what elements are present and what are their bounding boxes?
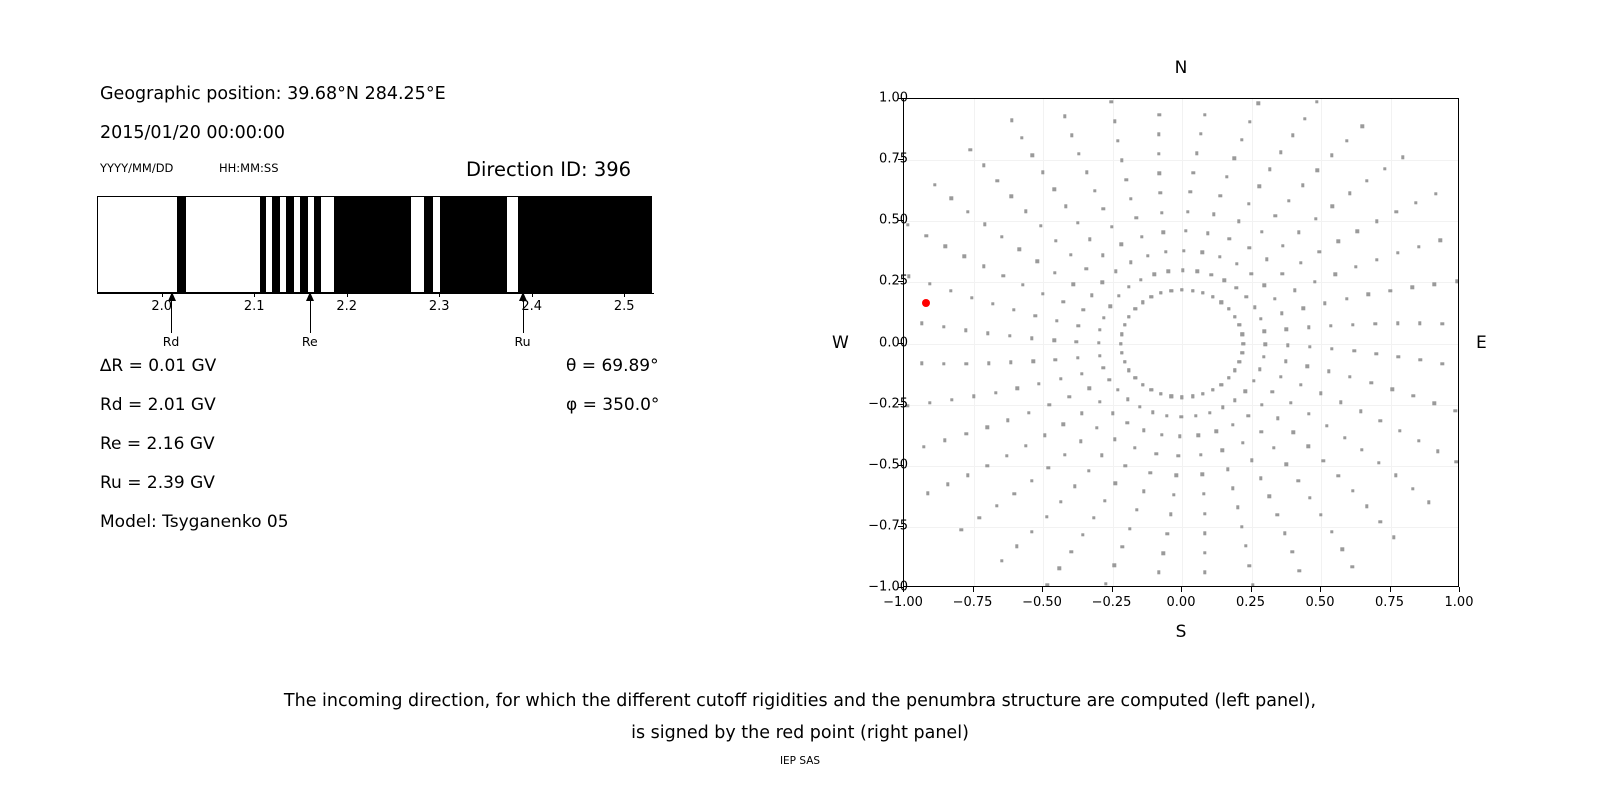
direction-point (1360, 448, 1363, 451)
direction-point (1138, 405, 1141, 408)
x-axis-tick-label: 1.00 (1445, 595, 1474, 610)
direction-point (1206, 232, 1209, 235)
direction-point (1117, 294, 1120, 297)
direction-point (1027, 411, 1030, 414)
direction-point (1101, 254, 1104, 257)
x-axis-tick (973, 587, 974, 592)
direction-point (1268, 167, 1271, 170)
direction-point (1063, 453, 1066, 456)
rigidity-marker-label: Ru (514, 334, 530, 349)
direction-point (1123, 323, 1126, 326)
rigidity-marker-label: Rd (163, 334, 180, 349)
direction-point (1306, 365, 1309, 368)
direction-point (1334, 273, 1337, 276)
direction-point (1158, 113, 1161, 116)
direction-point (987, 362, 990, 365)
direction-point (1291, 550, 1294, 553)
direction-point (1153, 273, 1156, 276)
x-axis-tick (1181, 587, 1182, 592)
direction-point (1160, 433, 1163, 436)
direction-point (1133, 376, 1136, 379)
direction-point (1063, 115, 1066, 118)
direction-point (920, 362, 923, 365)
direction-point (1064, 204, 1067, 207)
direction-point (1097, 341, 1100, 344)
direction-point (1280, 312, 1283, 315)
direction-point (1262, 355, 1265, 358)
direction-point (1162, 551, 1165, 554)
direction-point (1032, 360, 1035, 363)
direction-point (1375, 220, 1378, 223)
direction-point (1095, 426, 1098, 429)
direction-point (1194, 414, 1197, 417)
direction-point (1157, 571, 1160, 574)
penumbra-chart (97, 196, 652, 293)
direction-point (1260, 230, 1263, 233)
direction-point (1133, 446, 1136, 449)
gridline-horizontal (904, 344, 1458, 345)
direction-point (933, 183, 936, 186)
direction-point (1284, 360, 1287, 363)
direction-point (1055, 319, 1058, 322)
direction-point (1098, 354, 1101, 357)
penumbra-forbidden-band (314, 197, 320, 292)
direction-point (1167, 269, 1170, 272)
direction-point (1279, 375, 1282, 378)
direction-point (1379, 520, 1382, 523)
direction-point (1201, 473, 1204, 476)
direction-point (1178, 435, 1181, 438)
direction-point (1150, 295, 1153, 298)
direction-point (1263, 283, 1266, 286)
direction-point (1285, 327, 1288, 330)
direction-point (1299, 261, 1302, 264)
x-axis-tick (1112, 587, 1113, 592)
direction-point (1082, 308, 1085, 311)
direction-point (1053, 188, 1056, 191)
direction-point (1235, 286, 1238, 289)
direction-point (1133, 307, 1136, 310)
direction-point (1339, 401, 1342, 404)
direction-point (1240, 138, 1243, 141)
direction-point (946, 483, 949, 486)
direction-point (970, 296, 973, 299)
date-format-hint: YYYY/MM/DD (100, 161, 173, 175)
x-axis-tick-label: −0.50 (1022, 595, 1062, 610)
direction-point (1453, 409, 1456, 412)
direction-point (1110, 100, 1113, 103)
direction-point (1272, 446, 1275, 449)
direction-point (1203, 113, 1206, 116)
direction-point (1293, 288, 1296, 291)
penumbra-axis-tick (624, 293, 625, 297)
direction-point (1291, 431, 1294, 434)
penumbra-axis-tick (162, 293, 163, 297)
direction-point (1047, 466, 1050, 469)
direction-point (1110, 225, 1113, 228)
direction-point (944, 245, 947, 248)
direction-point (1047, 403, 1050, 406)
direction-point (1080, 412, 1083, 415)
direction-point (1313, 280, 1316, 283)
direction-point (1008, 334, 1011, 337)
direction-point (1336, 240, 1339, 243)
direction-point (1045, 515, 1048, 518)
direction-point (1245, 295, 1248, 298)
direction-grid-plot (903, 98, 1459, 587)
direction-point (1308, 496, 1311, 499)
gridline-horizontal (904, 282, 1458, 283)
penumbra-axis-tick-label: 2.1 (244, 299, 265, 314)
direction-point (1037, 382, 1040, 385)
direction-point (1181, 268, 1184, 271)
direction-point (1141, 301, 1144, 304)
direction-point (925, 234, 928, 237)
direction-point (950, 398, 953, 401)
direction-point (1062, 423, 1065, 426)
penumbra-forbidden-band (424, 197, 433, 292)
direction-point (1228, 237, 1231, 240)
direction-point (1250, 272, 1253, 275)
direction-point (1418, 322, 1421, 325)
direction-point (1088, 387, 1091, 390)
param-phi: φ = 350.0° (566, 395, 659, 415)
direction-point (949, 289, 952, 292)
direction-point (1123, 360, 1126, 363)
direction-point (926, 492, 929, 495)
direction-point (1356, 229, 1359, 232)
direction-point (942, 325, 945, 328)
footer-text: IEP SAS (0, 755, 1600, 767)
direction-point (1227, 307, 1230, 310)
left-panel: Geographic position: 39.68°N 284.25°E 20… (0, 0, 760, 620)
x-axis-tick-label: 0.00 (1167, 595, 1196, 610)
direction-point (1211, 295, 1214, 298)
direction-point (965, 432, 968, 435)
direction-point (1247, 202, 1250, 205)
direction-point (1365, 504, 1368, 507)
direction-point (1191, 289, 1194, 292)
direction-point (1199, 453, 1202, 456)
direction-point (1159, 191, 1162, 194)
direction-point (1010, 194, 1013, 197)
direction-point (1240, 525, 1243, 528)
direction-point (1154, 452, 1157, 455)
direction-point (1146, 254, 1149, 257)
direction-point (1174, 474, 1177, 477)
direction-point (1258, 368, 1261, 371)
direction-point (1401, 156, 1404, 159)
direction-point (1053, 271, 1056, 274)
direction-point (1383, 167, 1386, 170)
direction-point (1197, 434, 1200, 437)
direction-point (942, 362, 945, 365)
direction-point (1085, 171, 1088, 174)
direction-point (1045, 583, 1048, 586)
direction-point (982, 164, 985, 167)
direction-point (1398, 429, 1401, 432)
direction-point (1218, 255, 1221, 258)
direction-point (1116, 139, 1119, 142)
direction-point (1274, 214, 1277, 217)
direction-point (964, 329, 967, 332)
direction-point (1128, 527, 1131, 530)
direction-point (1220, 301, 1223, 304)
direction-point (1024, 210, 1027, 213)
direction-point (1054, 358, 1057, 361)
direction-point (996, 179, 999, 182)
penumbra-axis-tick-label: 2.2 (336, 299, 357, 314)
direction-point (1291, 134, 1294, 137)
arrow-up-icon (519, 292, 527, 301)
direction-point (1268, 495, 1271, 498)
direction-point (1135, 216, 1138, 219)
direction-point (1030, 530, 1033, 533)
direction-point (943, 439, 946, 442)
direction-point (1191, 395, 1194, 398)
direction-point (1331, 204, 1334, 207)
direction-point (1196, 270, 1199, 273)
direction-point (1079, 440, 1082, 443)
direction-point (1285, 463, 1288, 466)
direction-point (1159, 392, 1162, 395)
direction-point (978, 516, 981, 519)
direction-point (1397, 355, 1400, 358)
direction-point (1112, 564, 1115, 567)
y-axis-tick-label: 0.50 (879, 213, 908, 228)
caption-line-1: The incoming direction, for which the di… (0, 685, 1600, 717)
direction-point (1059, 377, 1062, 380)
direction-point (1375, 258, 1378, 261)
direction-point (1233, 315, 1236, 318)
direction-point (1248, 120, 1251, 123)
direction-point (1098, 400, 1101, 403)
direction-point (1352, 349, 1355, 352)
direction-point (1054, 239, 1057, 242)
direction-point (1077, 152, 1080, 155)
direction-point (1104, 582, 1107, 585)
time-format-hint: HH:MM:SS (219, 161, 279, 175)
direction-point (1231, 487, 1234, 490)
direction-point (1417, 245, 1420, 248)
penumbra-axis-tick (532, 293, 533, 297)
direction-point (1303, 117, 1306, 120)
direction-point (1140, 235, 1143, 238)
compass-label-north: N (1175, 58, 1188, 78)
direction-point (928, 282, 931, 285)
direction-point (1160, 211, 1163, 214)
direction-point (1265, 258, 1268, 261)
penumbra-forbidden-band (177, 197, 186, 292)
direction-point (1092, 516, 1095, 519)
direction-point (1108, 305, 1111, 308)
direction-point (1233, 369, 1236, 372)
penumbra-axis-tick-label: 2.4 (521, 299, 542, 314)
direction-point (1307, 326, 1310, 329)
x-axis-tick-label: −1.00 (883, 595, 923, 610)
direction-point (1340, 548, 1343, 551)
direction-point (1100, 453, 1103, 456)
direction-point (1126, 398, 1129, 401)
direction-point (1061, 300, 1064, 303)
direction-point (1000, 235, 1003, 238)
direction-point (1455, 280, 1458, 283)
direction-point (1361, 125, 1364, 128)
direction-point (1058, 567, 1061, 570)
direction-point (1287, 199, 1290, 202)
direction-point (1301, 184, 1304, 187)
direction-point (1141, 383, 1144, 386)
direction-point (1252, 379, 1255, 382)
selected-direction-point[interactable] (922, 299, 930, 307)
direction-point (1142, 490, 1145, 493)
direction-point (1170, 289, 1173, 292)
direction-point (950, 197, 953, 200)
direction-point (965, 362, 968, 365)
direction-point (1020, 136, 1023, 139)
direction-point (1030, 337, 1033, 340)
direction-point (1231, 423, 1234, 426)
direction-point (1236, 506, 1239, 509)
x-axis-tick (1042, 587, 1043, 592)
direction-point (1281, 244, 1284, 247)
direction-point (1015, 545, 1018, 548)
x-axis-tick-label: 0.50 (1306, 595, 1335, 610)
penumbra-forbidden-band (518, 197, 652, 292)
direction-point (1127, 369, 1130, 372)
direction-point (1165, 414, 1168, 417)
direction-point (1264, 343, 1267, 346)
direction-point (1162, 231, 1165, 234)
direction-point (1214, 430, 1217, 433)
direction-point (1259, 477, 1262, 480)
direction-point (1260, 403, 1263, 406)
x-axis-tick-label: 0.25 (1236, 595, 1265, 610)
direction-point (1164, 250, 1167, 253)
x-axis-tick (903, 587, 904, 592)
direction-point (1436, 450, 1439, 453)
direction-point (1325, 424, 1328, 427)
direction-point (1297, 569, 1300, 572)
direction-point (966, 210, 969, 213)
direction-point (1392, 536, 1395, 539)
x-axis-tick-label: −0.25 (1092, 595, 1132, 610)
direction-point (1024, 444, 1027, 447)
param-ru: Ru = 2.39 GV (100, 473, 215, 493)
direction-point (1433, 282, 1436, 285)
direction-point (1043, 433, 1046, 436)
direction-point (1201, 392, 1204, 395)
direction-point (1417, 439, 1420, 442)
direction-point (1257, 185, 1260, 188)
direction-point (1235, 262, 1238, 265)
direction-point (1142, 428, 1145, 431)
direction-point (1203, 551, 1206, 554)
direction-point (1013, 492, 1016, 495)
direction-point (1227, 376, 1230, 379)
direction-point (1182, 249, 1185, 252)
direction-point (1184, 229, 1187, 232)
direction-point (1059, 500, 1062, 503)
direction-point (1201, 291, 1204, 294)
direction-point (1319, 513, 1322, 516)
direction-point (1129, 260, 1132, 263)
direction-point (1241, 342, 1244, 345)
direction-point (1102, 316, 1105, 319)
direction-point (1237, 220, 1240, 223)
direction-point (1098, 328, 1101, 331)
y-axis-tick-label: 1.00 (879, 91, 908, 106)
direction-point (1000, 559, 1003, 562)
direction-point (1455, 460, 1458, 463)
direction-point (1088, 237, 1091, 240)
direction-point (1276, 513, 1279, 516)
geographic-position-text: Geographic position: 39.68°N 284.25°E (100, 84, 446, 104)
direction-point (1203, 531, 1206, 534)
direction-point (1345, 139, 1348, 142)
direction-point (1127, 285, 1130, 288)
compass-label-west: W (832, 333, 849, 353)
direction-point (1327, 370, 1330, 373)
penumbra-axis-tick-label: 2.3 (429, 299, 450, 314)
direction-point (1165, 532, 1168, 535)
direction-point (1080, 372, 1083, 375)
direction-point (1315, 100, 1318, 103)
param-rd: Rd = 2.01 GV (100, 395, 216, 415)
direction-point (1069, 253, 1072, 256)
direction-point (1307, 412, 1310, 415)
direction-point (1299, 383, 1302, 386)
gridline-vertical (1113, 99, 1114, 586)
direction-point (1238, 360, 1241, 363)
right-panel: N S W E −1.00−0.75−0.50−0.250.000.250.50… (780, 0, 1600, 660)
direction-point (1211, 388, 1214, 391)
direction-point (1111, 412, 1114, 415)
direction-point (1006, 419, 1009, 422)
direction-point (1172, 493, 1175, 496)
direction-point (1367, 293, 1370, 296)
direction-point (1330, 530, 1333, 533)
direction-point (1250, 459, 1253, 462)
direction-point (1218, 194, 1221, 197)
direction-point (1247, 414, 1250, 417)
direction-point (1330, 347, 1333, 350)
direction-point (1102, 207, 1105, 210)
direction-point (1248, 564, 1251, 567)
direction-point (1085, 267, 1088, 270)
direction-point (1302, 306, 1305, 309)
direction-point (1220, 383, 1223, 386)
direction-point (1070, 133, 1073, 136)
direction-point (972, 395, 975, 398)
direction-point (1276, 417, 1279, 420)
direction-point (1135, 508, 1138, 511)
direction-point (1116, 388, 1119, 391)
direction-point (1348, 192, 1351, 195)
direction-point (995, 504, 998, 507)
direction-point (1257, 102, 1260, 105)
direction-point (1157, 152, 1160, 155)
direction-point (991, 302, 994, 305)
x-axis-tick (1320, 587, 1321, 592)
direction-point (1126, 421, 1129, 424)
direction-point (1127, 315, 1130, 318)
direction-point (1113, 438, 1116, 441)
gridline-horizontal (904, 405, 1458, 406)
direction-point (1199, 132, 1202, 135)
caption-line-2: is signed by the red point (right panel) (0, 717, 1600, 749)
direction-point (1150, 388, 1153, 391)
